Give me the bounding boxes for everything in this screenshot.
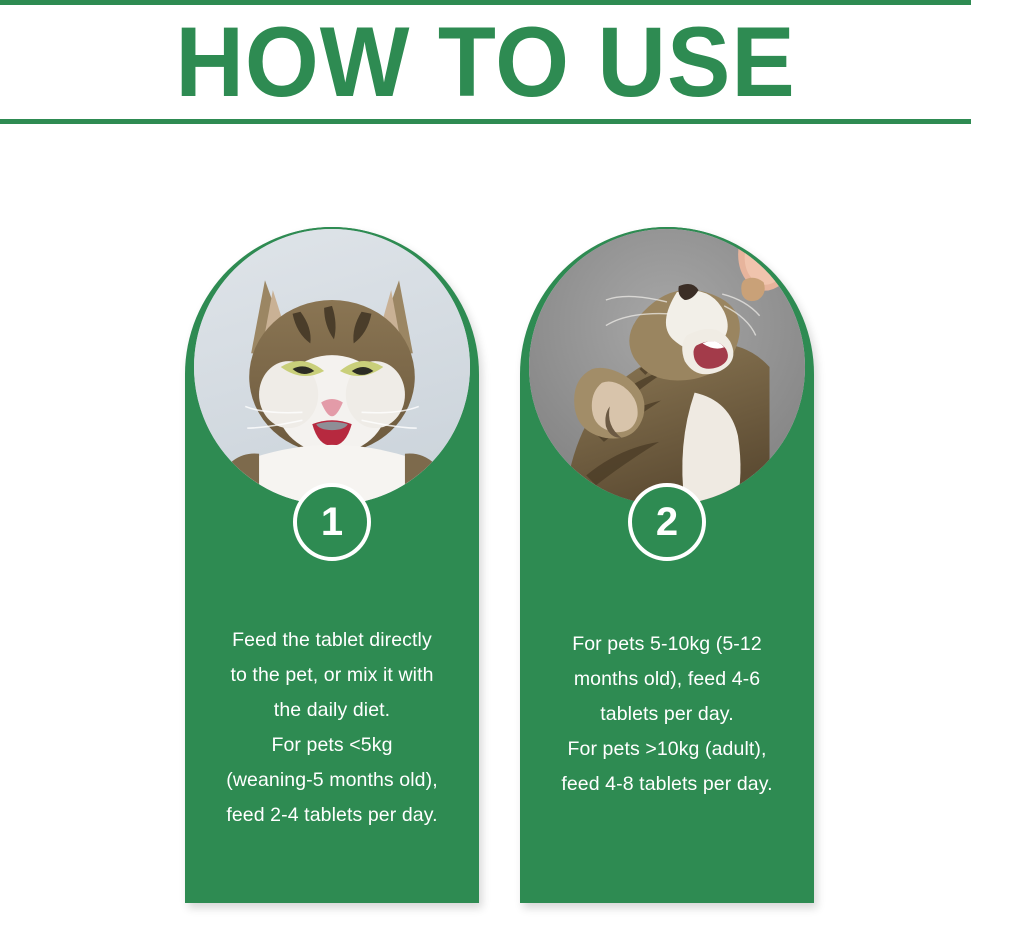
step-card-2: 2 For pets 5-10kg (5-12 months old), fee… <box>520 227 814 903</box>
step-2-text: For pets 5-10kg (5-12 months old), feed … <box>528 627 806 802</box>
step-1-photo <box>192 227 472 507</box>
step-2-photo <box>527 227 807 507</box>
step-1-text: Feed the tablet directly to the pet, or … <box>193 623 471 833</box>
steps-container: 1 Feed the tablet directly to the pet, o… <box>0 0 1024 928</box>
cat-front-photo-icon <box>194 229 470 505</box>
step-1-badge: 1 <box>293 483 371 561</box>
step-2-badge: 2 <box>628 483 706 561</box>
cat-treat-photo-icon <box>529 229 805 505</box>
step-card-1: 1 Feed the tablet directly to the pet, o… <box>185 227 479 903</box>
